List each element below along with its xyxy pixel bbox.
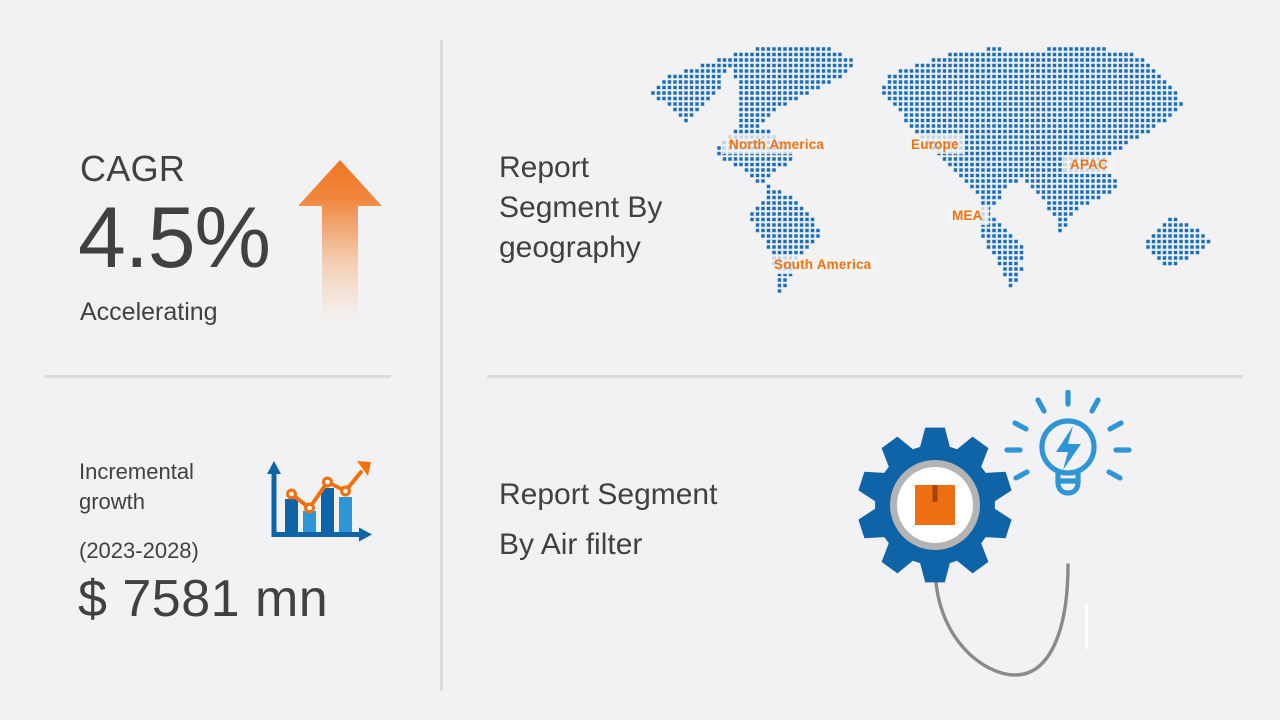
map-label-south-america: South America <box>768 255 877 274</box>
cagr-trend-label: Accelerating <box>80 296 218 328</box>
gear-lightbulb-icon <box>855 390 1145 680</box>
growth-value: $ 7581 mn <box>78 567 328 631</box>
growth-period-label: (2023-2028) <box>79 537 199 565</box>
incremental-growth-panel: Incremental growth (2023-2028) $ 7581 mn <box>0 375 440 720</box>
segment-panel: Report Segment By Air filter <box>440 375 1280 720</box>
incremental-growth-label: Incremental growth <box>79 457 249 517</box>
map-label-north-america: North America <box>723 135 830 154</box>
dotted-world-map-icon <box>640 45 1220 350</box>
gear-shape <box>858 428 1011 583</box>
cagr-value: 4.5% <box>78 190 270 286</box>
cagr-panel: CAGR 4.5% Accelerating <box>0 0 440 375</box>
up-arrow-icon <box>296 158 384 338</box>
slide-canvas: CAGR 4.5% Accelerating Incremental grow <box>0 0 1280 720</box>
segment-title: Report Segment By Air filter <box>499 470 729 570</box>
map-label-europe: Europe <box>905 135 965 154</box>
geography-panel: Report Segment By geography <box>440 0 1280 375</box>
cagr-label: CAGR <box>80 148 185 190</box>
map-label-apac: APAC <box>1064 155 1114 174</box>
map-label-mea: MEA <box>946 206 989 225</box>
bar-line-growth-chart-icon <box>258 455 376 550</box>
